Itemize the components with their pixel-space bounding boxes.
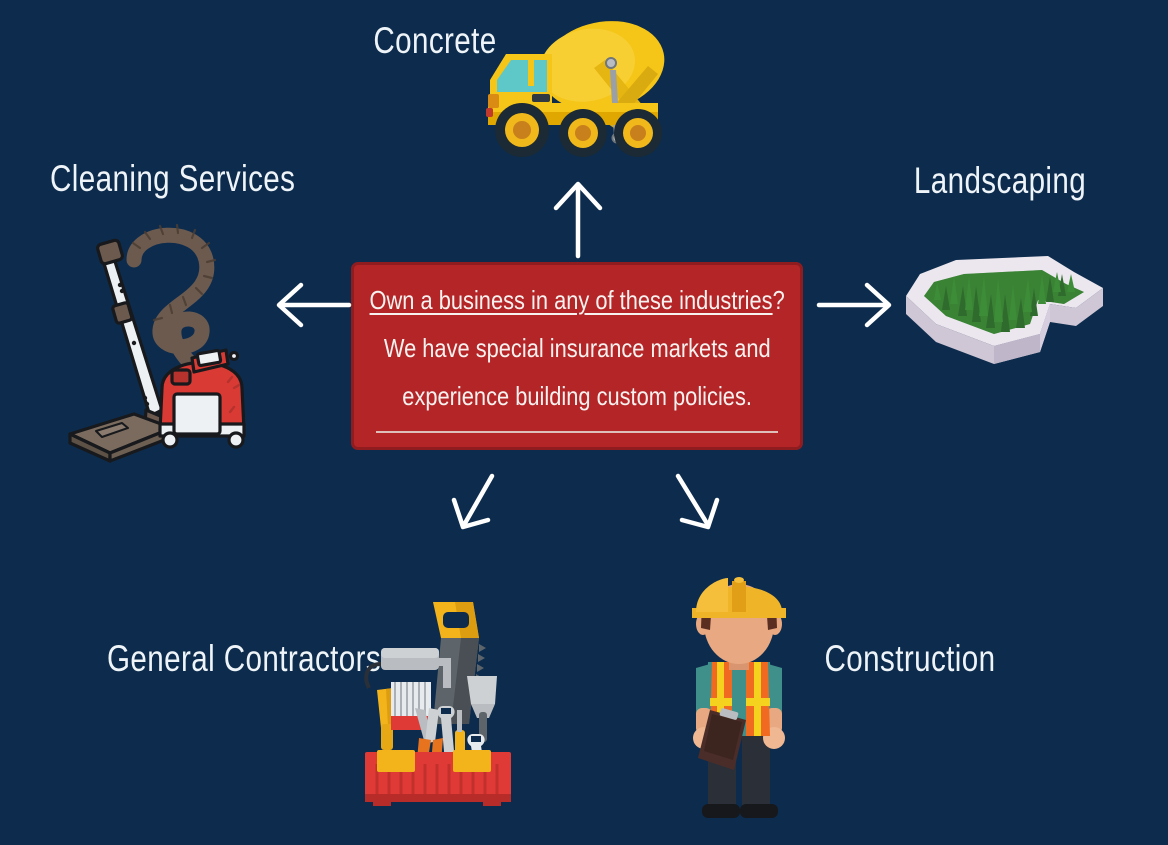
arrow-down-right-icon (666, 470, 724, 532)
arrow-right-icon (815, 280, 893, 330)
arrow-up-icon (548, 178, 608, 260)
callout-headline-underlined: Own a business in any of these industrie… (369, 285, 772, 315)
industry-label-construction: Construction (810, 638, 1010, 680)
callout-headline-question-mark: ? (772, 285, 784, 315)
callout-box: Own a business in any of these industrie… (351, 262, 803, 450)
construction-worker-icon (672, 558, 807, 830)
industry-label-general-contractors: General Contractors (107, 638, 323, 680)
infographic-canvas: Concrete Cleaning Services Landscaping G… (0, 0, 1168, 845)
toolbox-icon (355, 592, 520, 807)
grass-planter-icon (898, 252, 1113, 367)
arrow-down-left-icon (448, 470, 506, 532)
callout-divider-rule (376, 431, 778, 433)
callout-subline-1: We have special insurance markets and (384, 335, 771, 361)
industry-label-landscaping: Landscaping (900, 160, 1100, 202)
arrow-left-icon (275, 280, 353, 330)
canister-vacuum-icon (50, 212, 260, 467)
callout-subline-2: experience building custom policies. (402, 383, 752, 409)
industry-label-cleaning-services: Cleaning Services (50, 158, 250, 200)
cement-mixer-truck-icon (470, 8, 685, 173)
callout-headline: Own a business in any of these industrie… (369, 287, 784, 313)
